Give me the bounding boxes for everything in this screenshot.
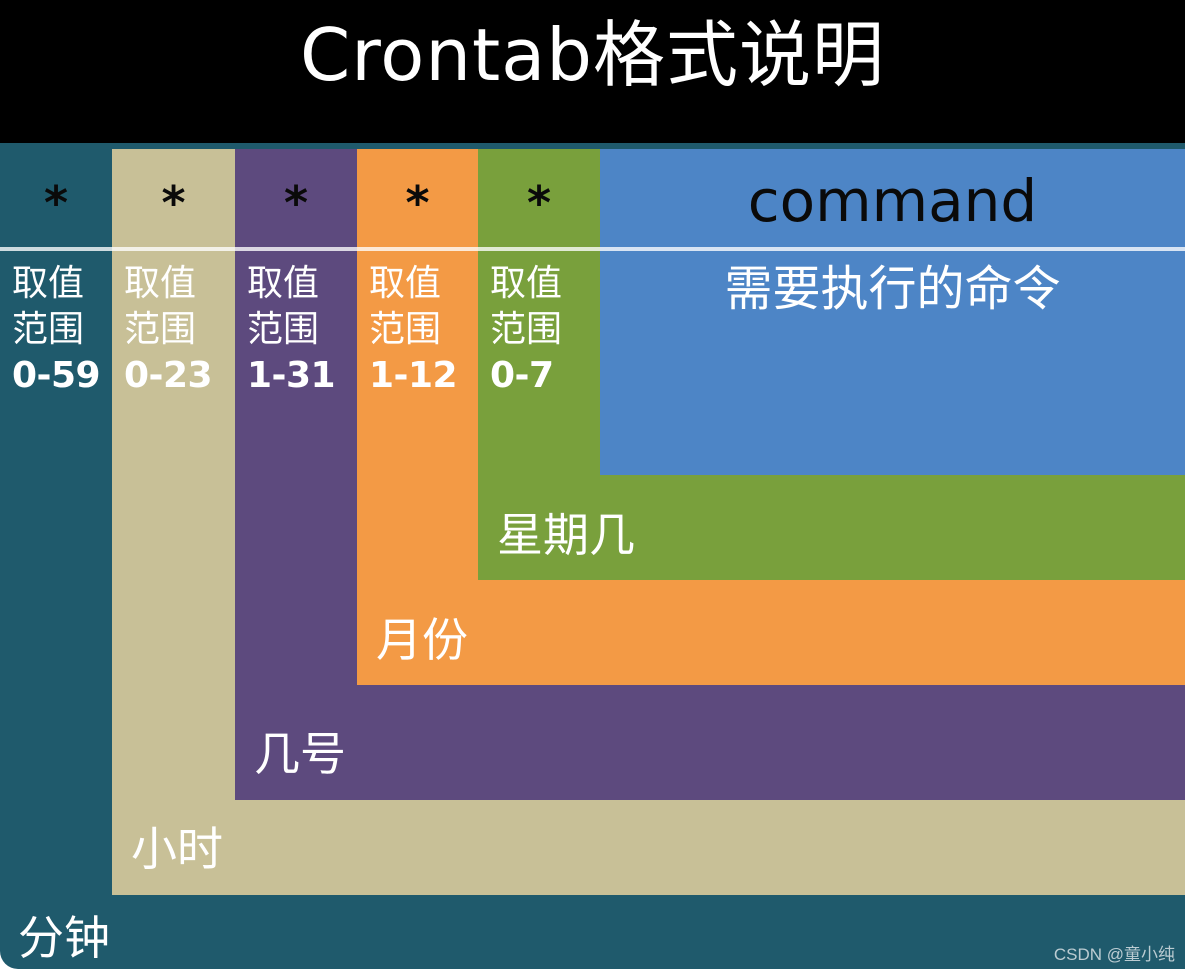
column-month: * 取值 范围 1-12 — [357, 149, 478, 389]
range-value-day-of-week: 0-7 — [490, 353, 600, 399]
asterisk-minute: * — [0, 149, 112, 253]
column-hour: * 取值 范围 0-23 — [112, 149, 235, 389]
range-label-line1: 取值 — [490, 261, 600, 307]
range-label-line2: 范围 — [124, 307, 235, 353]
asterisk-day-of-week: * — [478, 149, 600, 253]
band-label-month: 月份 — [376, 617, 468, 663]
command-column: command 需要执行的命令 — [600, 149, 1185, 475]
range-label-line2: 范围 — [247, 307, 357, 353]
range-month: 取值 范围 1-12 — [357, 261, 478, 399]
range-minute: 取值 范围 0-59 — [0, 261, 112, 399]
band-label-minute: 分钟 — [18, 915, 110, 961]
range-label-line2: 范围 — [12, 307, 112, 353]
range-day-of-week: 取值 范围 0-7 — [478, 261, 600, 399]
asterisk-day-of-month: * — [235, 149, 357, 253]
watermark: CSDN @童小纯 — [1054, 946, 1175, 963]
range-label-line1: 取值 — [369, 261, 478, 307]
band-label-hour: 小时 — [131, 826, 223, 872]
band-label-day-of-week: 星期几 — [497, 512, 635, 558]
asterisk-month: * — [357, 149, 478, 253]
column-day-of-week: * 取值 范围 0-7 — [478, 149, 600, 389]
range-value-day-of-month: 1-31 — [247, 353, 357, 399]
range-label-line1: 取值 — [12, 261, 112, 307]
asterisk-hour: * — [112, 149, 235, 253]
page-title: Crontab格式说明 — [0, 14, 1185, 97]
crontab-format-diagram: Crontab格式说明 * 取值 范围 0-59 — [0, 0, 1185, 969]
range-label-line1: 取值 — [247, 261, 357, 307]
diagram-canvas: * 取值 范围 0-59 * 取值 范围 0-23 * — [0, 143, 1185, 969]
range-label-line2: 范围 — [490, 307, 600, 353]
range-value-month: 1-12 — [369, 353, 478, 399]
title-bar: Crontab格式说明 — [0, 0, 1185, 143]
range-value-hour: 0-23 — [124, 353, 235, 399]
column-day-of-month: * 取值 范围 1-31 — [235, 149, 357, 389]
header-separator — [0, 247, 1185, 251]
column-minute: * 取值 范围 0-59 — [0, 149, 112, 389]
range-label-line1: 取值 — [124, 261, 235, 307]
command-heading: command — [600, 149, 1185, 253]
range-value-minute: 0-59 — [12, 353, 112, 399]
range-day-of-month: 取值 范围 1-31 — [235, 261, 357, 399]
range-hour: 取值 范围 0-23 — [112, 261, 235, 399]
band-label-day-of-month: 几号 — [254, 731, 346, 777]
range-label-line2: 范围 — [369, 307, 478, 353]
command-description: 需要执行的命令 — [600, 261, 1185, 319]
